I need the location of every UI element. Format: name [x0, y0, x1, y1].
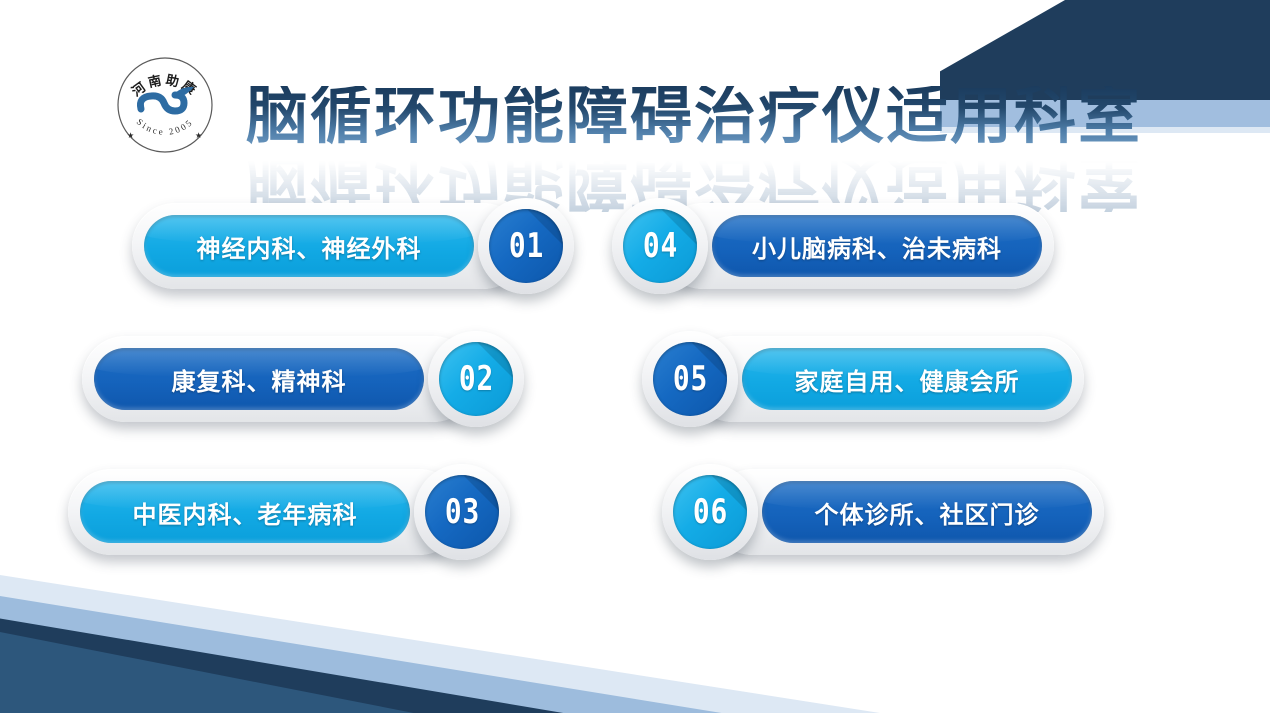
title-block: 脑循环功能障碍治疗仪适用科室 脑循环功能障碍治疗仪适用科室: [246, 86, 1142, 196]
pill-shell-06: 个体诊所、社区门诊: [710, 469, 1104, 555]
badge-number: 04: [642, 226, 677, 266]
badge-number: 02: [458, 359, 493, 399]
number-badge-03[interactable]: 03: [414, 464, 510, 560]
list-item-label: 家庭自用、健康会所: [795, 362, 1020, 397]
list-item-05[interactable]: 家庭自用、健康会所 05: [642, 329, 1084, 429]
pill-body-02: 康复科、精神科: [94, 348, 424, 410]
page-title: 脑循环功能障碍治疗仪适用科室: [246, 86, 1142, 148]
badge-number: 05: [672, 359, 707, 399]
badge-number: 01: [508, 226, 543, 266]
number-badge-02[interactable]: 02: [428, 331, 524, 427]
list-item-03[interactable]: 中医内科、老年病科 03: [68, 462, 510, 562]
pill-body-05: 家庭自用、健康会所: [742, 348, 1072, 410]
svg-text:★: ★: [127, 131, 134, 140]
list-item-04[interactable]: 小儿脑病科、治未病科 04: [612, 196, 1054, 296]
pill-body-04: 小儿脑病科、治未病科: [712, 215, 1042, 277]
pill-shell-05: 家庭自用、健康会所: [690, 336, 1084, 422]
svg-text:★: ★: [195, 131, 202, 140]
slide-header: 河南助康 Since 2005 ★ ★ 脑循环功能障碍治疗仪适用科室 脑循环功能…: [0, 30, 1270, 180]
list-item-06[interactable]: 个体诊所、社区门诊 06: [662, 462, 1104, 562]
list-item-label: 小儿脑病科、治未病科: [752, 229, 1002, 264]
list-item-label: 神经内科、神经外科: [197, 229, 422, 264]
department-list: 神经内科、神经外科 01 康复科、精神科 02 中医内科、老年病科: [0, 196, 1270, 596]
pill-body-03: 中医内科、老年病科: [80, 481, 410, 543]
number-badge-01[interactable]: 01: [478, 198, 574, 294]
list-item-label: 中医内科、老年病科: [133, 495, 358, 530]
list-item-label: 个体诊所、社区门诊: [815, 495, 1040, 530]
pill-shell-02: 康复科、精神科: [82, 336, 476, 422]
list-item-label: 康复科、精神科: [172, 362, 347, 397]
badge-number: 03: [444, 492, 479, 532]
pill-shell-04: 小儿脑病科、治未病科: [660, 203, 1054, 289]
svg-text:河南助康: 河南助康: [129, 72, 201, 100]
list-item-01[interactable]: 神经内科、神经外科 01: [132, 196, 574, 296]
number-badge-06[interactable]: 06: [662, 464, 758, 560]
number-badge-05[interactable]: 05: [642, 331, 738, 427]
list-item-02[interactable]: 康复科、精神科 02: [82, 329, 524, 429]
pill-body-06: 个体诊所、社区门诊: [762, 481, 1092, 543]
company-logo: 河南助康 Since 2005 ★ ★: [112, 52, 218, 158]
pill-shell-03: 中医内科、老年病科: [68, 469, 462, 555]
pill-shell-01: 神经内科、神经外科: [132, 203, 526, 289]
badge-number: 06: [692, 492, 727, 532]
pill-body-01: 神经内科、神经外科: [144, 215, 474, 277]
svg-text:Since 2005: Since 2005: [135, 117, 196, 137]
number-badge-04[interactable]: 04: [612, 198, 708, 294]
